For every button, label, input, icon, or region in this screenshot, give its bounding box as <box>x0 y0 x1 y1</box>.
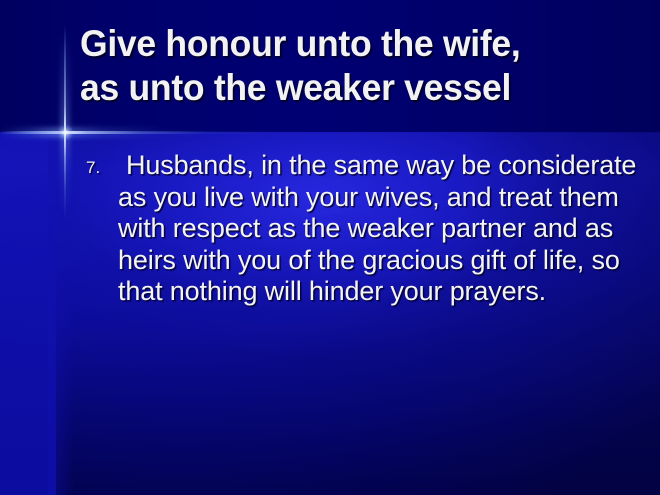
slide-title-line-2: as unto the weaker vessel <box>80 66 603 110</box>
list-item-text: Husbands, in the same way be considerate… <box>84 150 644 308</box>
cross-horizontal-line-icon <box>0 131 272 134</box>
list-item-text-content: Husbands, in the same way be considerate… <box>118 150 636 306</box>
slide-canvas: Give honour unto the wife, as unto the w… <box>0 0 660 495</box>
cross-vertical-line-icon <box>64 24 66 220</box>
cross-center-sparkle-icon <box>58 125 73 140</box>
slide-body: 7. Husbands, in the same way be consider… <box>84 150 644 308</box>
list-item-number: 7. <box>86 159 100 176</box>
slide-title-line-1: Give honour unto the wife, <box>80 22 603 66</box>
numbered-list-item: 7. Husbands, in the same way be consider… <box>84 150 644 308</box>
slide-title: Give honour unto the wife, as unto the w… <box>80 22 625 110</box>
